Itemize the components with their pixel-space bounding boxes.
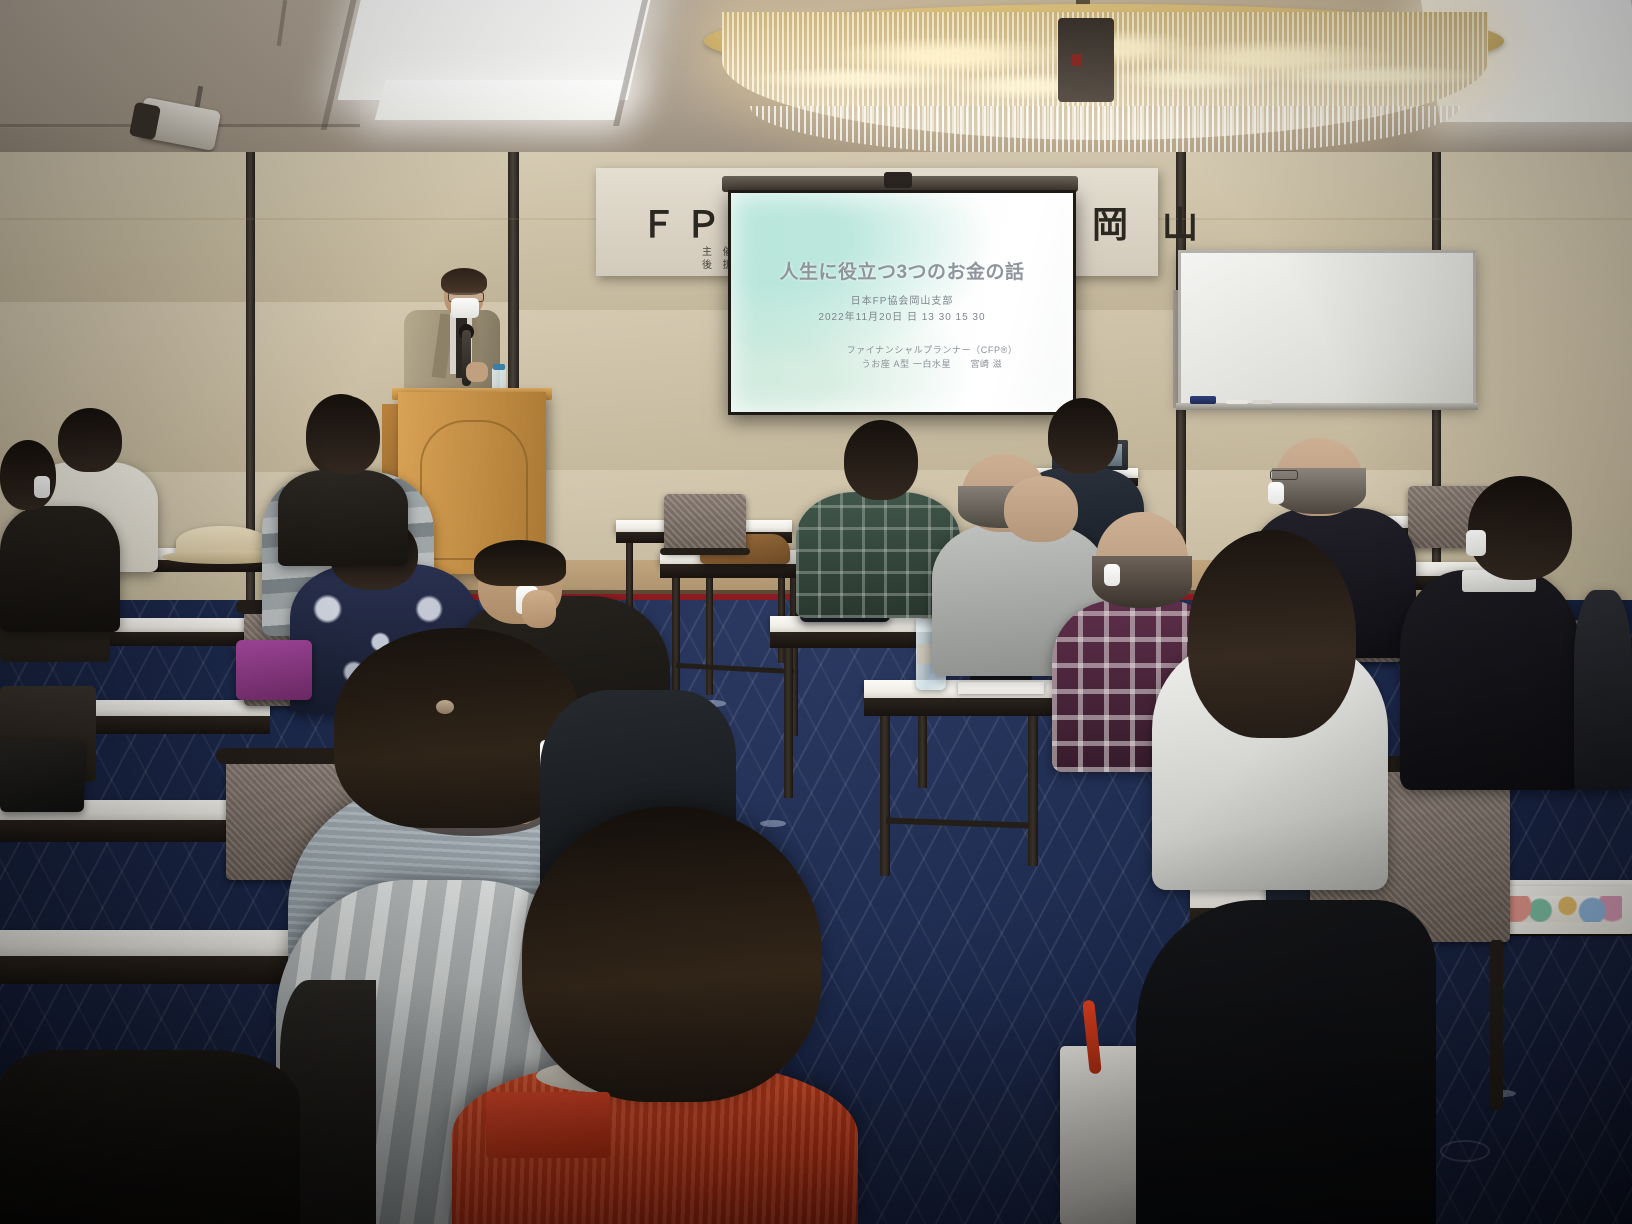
audience-head — [0, 440, 56, 510]
carpet-ring-motif — [1440, 1140, 1490, 1162]
slide-organization: 日本FP協会岡山支部 — [731, 292, 1073, 307]
audience-head — [314, 396, 380, 474]
audience-head — [58, 408, 122, 472]
table-leg — [880, 716, 890, 876]
projection-screen-bracket — [884, 172, 912, 188]
slide-title: 人生に役立つ3つのお金の話 — [731, 257, 1073, 284]
audience-head — [1004, 476, 1078, 542]
chair-leg — [1490, 940, 1503, 1110]
whiteboard-eraser[interactable] — [1190, 396, 1216, 404]
face-mask-icon — [1268, 482, 1284, 504]
glasses-icon — [1270, 470, 1298, 480]
face-mask-icon — [1104, 564, 1120, 586]
banner-title-right: 岡 山 — [1092, 196, 1210, 248]
speaker-hand — [466, 362, 488, 382]
audience-hand — [522, 590, 556, 628]
audience-torso — [278, 470, 408, 566]
slide-presenter-role: ファイナンシャルプランナー（CFP®） — [731, 343, 1073, 356]
podium-arch-detail — [420, 420, 528, 560]
chair[interactable] — [664, 494, 746, 552]
audience-torso — [0, 1050, 300, 1224]
handout-papers[interactable] — [958, 682, 1044, 694]
speaker-hair — [441, 268, 487, 295]
table-leg — [784, 648, 793, 798]
brochure-foreground-graphic — [1498, 896, 1622, 922]
projector-indicator-light — [1072, 54, 1082, 66]
skylight-2 — [375, 80, 626, 120]
whiteboard-marker-icon-2[interactable] — [1252, 400, 1272, 404]
audience-head — [1048, 398, 1118, 474]
chandelier-lower-fringe — [750, 106, 1460, 158]
chair-frame — [660, 548, 750, 555]
wall-panel-left-1 — [0, 152, 250, 304]
slide-presenter-name: うお座 A型 一白水星 宮崎 滋 — [731, 357, 1073, 370]
table-water-bottle-edge — [864, 698, 1060, 716]
black-bag-left[interactable] — [0, 740, 84, 812]
slide-surface: 人生に役立つ3つのお金の話 日本FP協会岡山支部 2022年11月20日 日 1… — [731, 193, 1073, 412]
podium-water-bottle-cap — [493, 364, 505, 370]
slide-datetime: 2022年11月20日 日 13 30 15 30 — [731, 308, 1073, 323]
audience-torso — [0, 506, 120, 632]
whiteboard-marker-icon[interactable] — [1226, 400, 1248, 404]
face-mask-icon — [34, 476, 50, 498]
chandelier — [690, 0, 1520, 166]
seminar-room-photo: ＦＰフ 岡 山 主 催 後 援 人生に役立つ3つのお金の話 日本FP協会岡山支部… — [0, 0, 1632, 1224]
audience-torso — [1400, 570, 1580, 790]
pen-icon[interactable] — [970, 676, 1032, 680]
face-mask-icon — [451, 298, 479, 318]
audience-torso — [1574, 590, 1632, 790]
hair-tie-icon — [436, 700, 454, 714]
audience-head — [1468, 476, 1572, 580]
purple-handbag[interactable] — [236, 640, 312, 700]
carpet-motif — [760, 820, 786, 827]
whiteboard-tray — [1176, 403, 1478, 410]
audience-hair-bob — [522, 806, 822, 1102]
audience-hair-long — [1188, 530, 1356, 738]
table-row-left-5-edge — [0, 956, 290, 984]
table-leg — [1028, 716, 1038, 866]
table-row-left-5 — [0, 930, 290, 956]
face-mask-icon — [1466, 530, 1486, 556]
audience-torso — [1136, 900, 1436, 1224]
ceiling-projector — [1058, 18, 1114, 102]
red-bag[interactable] — [486, 1092, 610, 1158]
whiteboard[interactable] — [1178, 250, 1476, 406]
projection-screen: 人生に役立つ3つのお金の話 日本FP協会岡山支部 2022年11月20日 日 1… — [728, 190, 1076, 415]
audience-hair — [474, 540, 566, 586]
audience-head — [844, 420, 918, 500]
